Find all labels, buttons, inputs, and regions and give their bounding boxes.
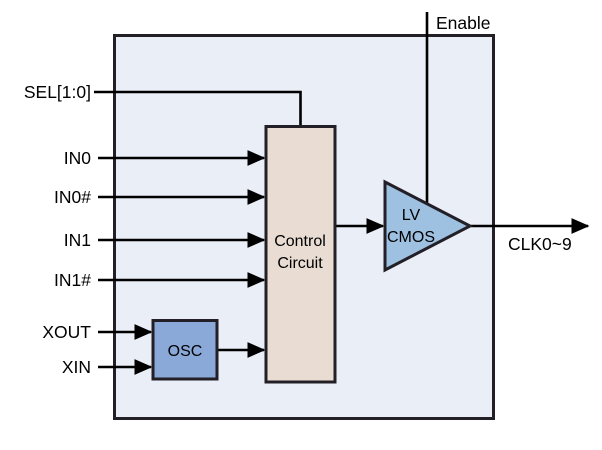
lv-cmos-label-line2: CMOS xyxy=(387,229,435,246)
pin-label-in0b: IN0# xyxy=(54,187,91,207)
pin-label-in1: IN1 xyxy=(64,230,91,250)
control-circuit-label-line1: Control xyxy=(274,233,326,250)
diagram-canvas: SEL[1:0] IN0 IN0# IN1 IN1# XOUT XIN Enab… xyxy=(0,0,602,450)
pin-label-in1b: IN1# xyxy=(54,270,91,290)
pin-label-sel: SEL[1:0] xyxy=(24,82,91,102)
pin-label-clk-out: CLK0~9 xyxy=(508,234,572,254)
lv-cmos-label-line1: LV xyxy=(402,207,421,224)
pin-label-xout: XOUT xyxy=(42,322,91,342)
pin-label-xin: XIN xyxy=(62,357,91,377)
block-diagram-root: SEL[1:0] IN0 IN0# IN1 IN1# XOUT XIN Enab… xyxy=(0,0,602,450)
pin-label-in0: IN0 xyxy=(64,148,92,168)
pin-label-enable: Enable xyxy=(436,13,491,33)
control-circuit-label-line2: Circuit xyxy=(277,255,323,272)
osc-label: OSC xyxy=(168,343,203,360)
